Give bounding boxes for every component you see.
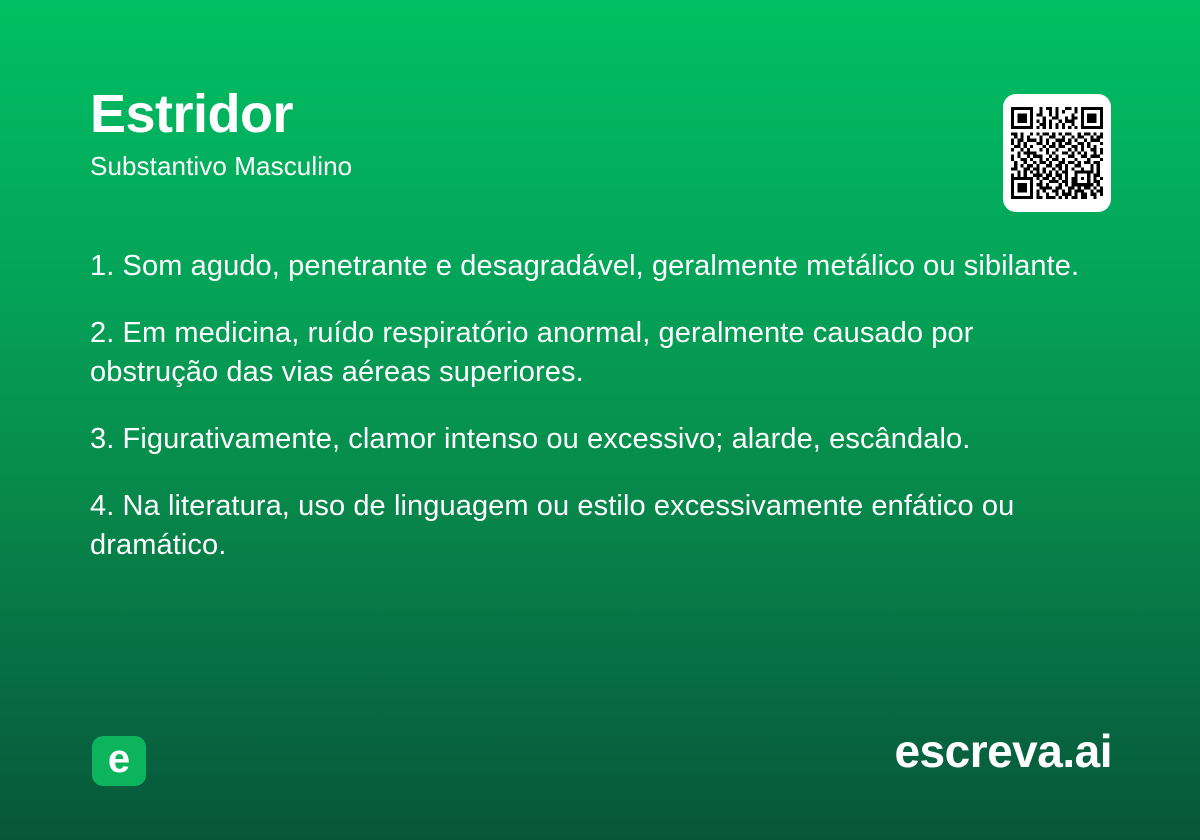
word-class-label: Substantivo Masculino [90,151,1110,182]
definition-item: 1. Som agudo, penetrante e desagradável,… [90,247,1100,286]
definition-item: 3. Figurativamente, clamor intenso ou ex… [90,420,1100,459]
dictionary-card: Estridor Substantivo Masculino [0,0,1200,840]
qr-code-card[interactable] [1003,94,1111,212]
page-title: Estridor [90,86,1110,143]
card-footer: e escreva.ai [0,720,1200,840]
brand-logo: e [92,736,146,786]
brand-logo-letter: e [108,739,130,779]
brand-wordmark: escreva.ai [894,728,1112,774]
definitions-list: 1. Som agudo, penetrante e desagradável,… [90,247,1100,565]
qr-code-icon[interactable] [1011,107,1103,199]
definition-item: 2. Em medicina, ruído respiratório anorm… [90,314,1100,392]
card-header: Estridor Substantivo Masculino [90,86,1110,216]
definition-item: 4. Na literatura, uso de linguagem ou es… [90,487,1100,565]
